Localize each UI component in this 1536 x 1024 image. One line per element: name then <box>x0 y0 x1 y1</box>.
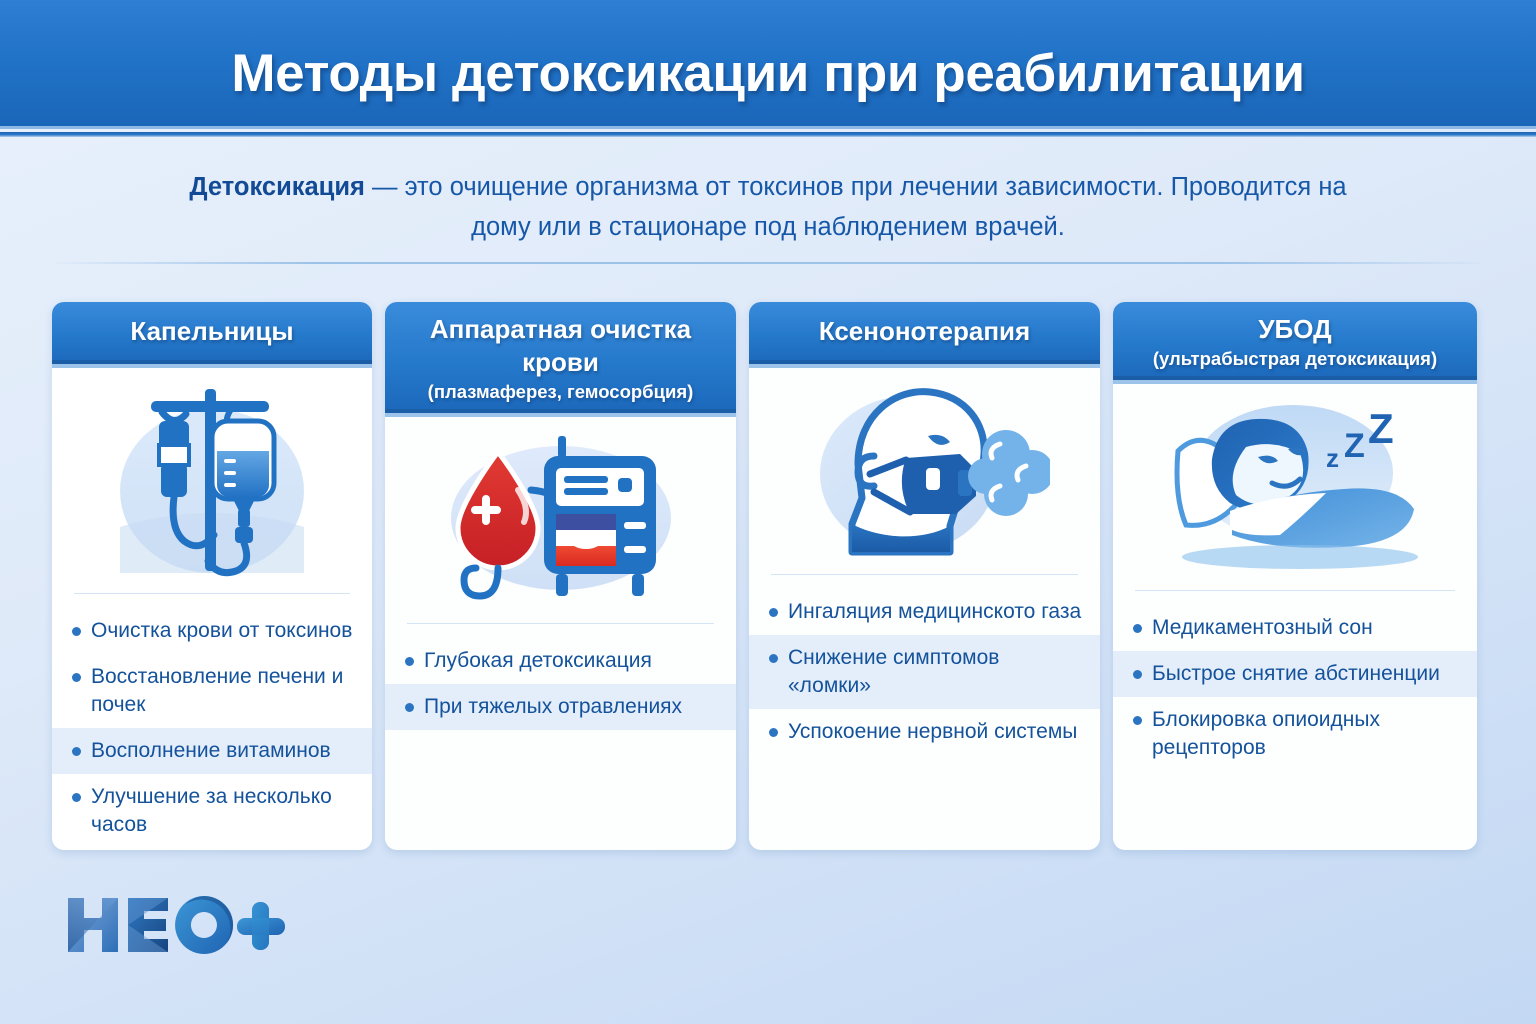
list-item: Успокоение нервной системы <box>749 709 1100 755</box>
bullet-text: Ингаляция медицинското газа <box>788 598 1081 626</box>
card-bullet-list: Глубокая детоксикация При тяжелых отравл… <box>385 624 736 850</box>
card-header: Аппаратная очистка крови (плазмаферез, г… <box>385 302 736 417</box>
card-header: Ксенонотерапия <box>749 302 1100 368</box>
bullet-text: Медикаментозный сон <box>1152 614 1373 642</box>
bullet-dot-icon <box>769 728 778 737</box>
intro-paragraph: Детоксикация — это очищение организма от… <box>168 167 1368 247</box>
intro-lead-word: Детоксикация <box>189 173 365 201</box>
list-item: Улучшение за несколько часов <box>52 774 372 848</box>
list-item: Блокировка опиоидных рецепторов <box>1113 697 1477 771</box>
card-title: Аппаратная очистка крови <box>395 313 726 379</box>
list-item: Ингаляция медицинското газа <box>749 589 1100 635</box>
neo-plus-logo <box>62 890 292 960</box>
bullet-text: Улучшение за несколько часов <box>91 783 354 839</box>
card-bullet-list: Ингаляция медицинското газа Снижение сим… <box>749 575 1100 850</box>
bullet-dot-icon <box>769 654 778 663</box>
list-item: Глубокая детоксикация <box>385 638 736 684</box>
list-item: При тяжелых отравлениях <box>385 684 736 730</box>
bullet-dot-icon <box>72 793 81 802</box>
intro-divider <box>56 262 1480 264</box>
card-title: УБОД <box>1123 313 1467 346</box>
sleeping-patient-icon: z Z Z <box>1113 384 1477 591</box>
bullet-dot-icon <box>1133 716 1142 725</box>
card-bullet-list: Медикаментозный сон Быстрое снятие абсти… <box>1113 591 1477 850</box>
bullet-dot-icon <box>72 627 81 636</box>
list-item: Восполнение витаминов <box>52 728 372 774</box>
bullet-text: При тяжелых отравлениях <box>424 693 682 721</box>
svg-text:Z: Z <box>1344 427 1365 465</box>
bullet-text: Глубокая детоксикация <box>424 647 652 675</box>
bullet-dot-icon <box>405 703 414 712</box>
card-title: Капельницы <box>62 315 362 348</box>
list-item: Быстрое снятие абстиненции <box>1113 651 1477 697</box>
iv-drip-icon <box>52 368 372 594</box>
card-header: Капельницы <box>52 302 372 368</box>
bullet-dot-icon <box>769 608 778 617</box>
card-title: Ксенонотерапия <box>759 315 1090 348</box>
bullet-text: Восполнение витаминов <box>91 737 331 765</box>
card-ubod[interactable]: УБОД (ультрабыстрая детоксикация) <box>1113 302 1477 850</box>
list-item: Медикаментозный сон <box>1113 605 1477 651</box>
list-item: Снижение симптомов «ломки» <box>749 635 1100 709</box>
bullet-dot-icon <box>1133 624 1142 633</box>
bullet-dot-icon <box>1133 670 1142 679</box>
card-subtitle: (плазмаферез, гемосорбция) <box>395 379 726 404</box>
method-cards: Капельницы <box>52 302 1482 850</box>
bullet-text: Успокоение нервной системы <box>788 718 1077 746</box>
card-apparatnaya-ochistka-krovi[interactable]: Аппаратная очистка крови (плазмаферез, г… <box>385 302 736 850</box>
bullet-dot-icon <box>72 673 81 682</box>
bullet-text: Блокировка опиоидных рецепторов <box>1152 706 1459 762</box>
bullet-dot-icon <box>405 657 414 666</box>
list-item: Очистка крови от токсинов <box>52 608 372 654</box>
card-ksenonoterapiya[interactable]: Ксенонотерапия <box>749 302 1100 850</box>
bullet-text: Быстрое снятие абстиненции <box>1152 660 1440 688</box>
card-subtitle: (ультрабыстрая детоксикация) <box>1123 346 1467 371</box>
bullet-dot-icon <box>72 747 81 756</box>
svg-text:z: z <box>1326 443 1339 473</box>
svg-text:Z: Z <box>1368 405 1394 452</box>
page-title: Методы детоксикации при реабилитации <box>0 43 1536 104</box>
card-header: УБОД (ультрабыстрая детоксикация) <box>1113 302 1477 384</box>
list-item: Восстановление печени и почек <box>52 654 372 728</box>
bullet-text: Снижение симптомов «ломки» <box>788 644 1082 700</box>
blood-drop-dialysis-machine-icon <box>385 417 736 624</box>
intro-text: — это очищение организма от токсинов при… <box>365 173 1347 241</box>
header-underline <box>0 132 1536 137</box>
bullet-text: Очистка крови от токсинов <box>91 617 352 645</box>
card-bullet-list: Очистка крови от токсинов Восстановление… <box>52 594 372 850</box>
card-kapelnitsy[interactable]: Капельницы <box>52 302 372 850</box>
bullet-text: Восстановление печени и почек <box>91 663 354 719</box>
head-with-oxygen-mask-icon <box>749 368 1100 575</box>
